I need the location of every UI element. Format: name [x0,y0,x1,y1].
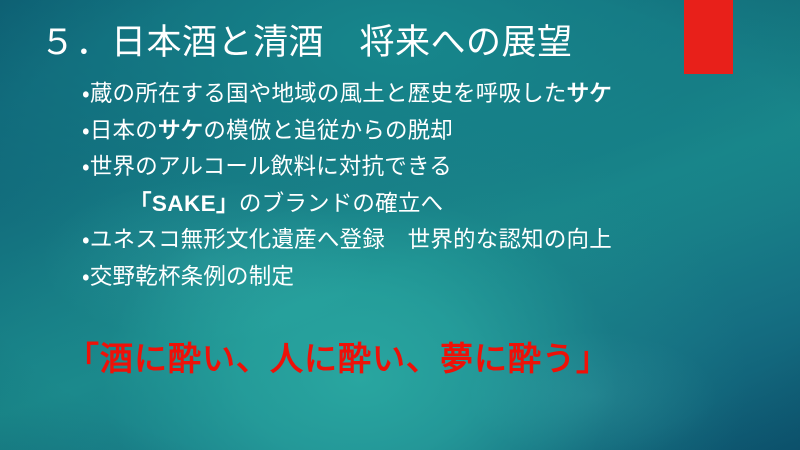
closing-slogan: 「酒に酔い、人に酔い、夢に酔う」 [66,339,610,379]
bullet-text-1: 蔵の所在する国や地域の風土と歴史を呼吸した [90,81,567,106]
bullet-text-3: 世界のアルコール飲料に対抗できる [90,154,452,179]
slide-title: ５．日本酒と清酒 将来への展望 [40,22,573,63]
bullet-emphasis-1: サケ [567,81,612,106]
bullet-list: ・蔵の所在する国や地域の風土と歴史を呼吸したサケ ・日本のサケの模倣と追従からの… [82,76,782,295]
bullet-item-5: ・ユネスコ無形文化遺産へ登録 世界的な認知の向上 [82,222,782,259]
bullet-marker-1: ・ [82,81,90,106]
bullet-marker-3: ・ [82,154,90,179]
bullet-item-4: 「SAKE」のブランドの確立へ [82,186,782,223]
bullet-marker-5: ・ [82,227,90,252]
bullet-text-6: 交野乾杯条例の制定 [90,264,294,289]
bullet-text-2: 日本の [90,118,158,143]
bullet-item-1: ・蔵の所在する国や地域の風土と歴史を呼吸したサケ [82,76,782,113]
bullet-emphasis-4: 「SAKE」 [129,191,239,216]
bullet-text-5: ユネスコ無形文化遺産へ登録 世界的な認知の向上 [90,227,612,252]
bullet-item-6: ・交野乾杯条例の制定 [82,259,782,296]
bullet-tail-2: の模倣と追従からの脱却 [203,118,453,143]
bullet-item-2: ・日本のサケの模倣と追従からの脱却 [82,113,782,150]
bullet-marker-2: ・ [82,118,90,143]
slide-content: ５．日本酒と清酒 将来への展望 ・蔵の所在する国や地域の風土と歴史を呼吸したサケ… [0,0,800,450]
bullet-item-3: ・世界のアルコール飲料に対抗できる [82,149,782,186]
bullet-marker-6: ・ [82,264,90,289]
bullet-emphasis-2: サケ [158,118,203,143]
bullet-tail-4: のブランドの確立へ [239,191,443,216]
presentation-slide: ５．日本酒と清酒 将来への展望 ・蔵の所在する国や地域の風土と歴史を呼吸したサケ… [0,0,800,450]
